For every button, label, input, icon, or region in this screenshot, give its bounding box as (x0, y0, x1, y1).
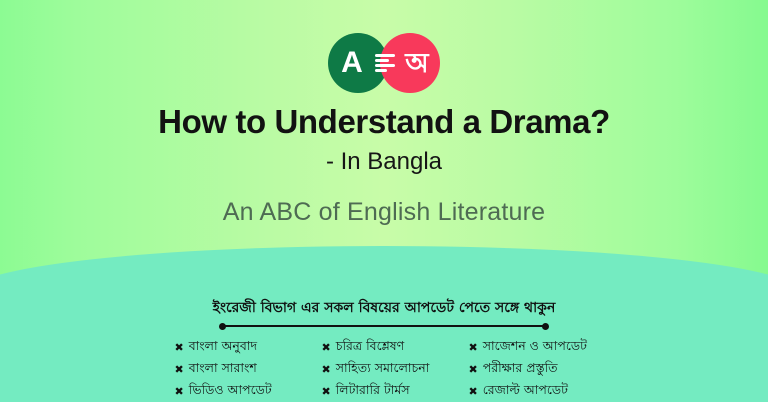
bottom-heading: ইংরেজী বিভাগ এর সকল বিষয়ের আপডেট পেতে স… (0, 300, 768, 317)
topic-item[interactable]: ✖পরীক্ষার প্রস্তুতি (469, 360, 594, 380)
logo-wrap: A অ (328, 33, 440, 93)
topic-item[interactable]: ✖বাংলা সারাংশ (175, 360, 300, 380)
topic-label: সাজেশন ও আপডেট (483, 338, 587, 358)
poster-canvas: A অ How to Understand a Drama? - In Bang… (0, 0, 768, 402)
bullet-marker-icon: ✖ (322, 341, 331, 354)
divider-bar (222, 325, 546, 327)
divider (219, 323, 549, 330)
topic-row: ✖বাংলা অনুবাদ✖চরিত্র বিশ্লেষণ✖সাজেশন ও আ… (175, 338, 594, 358)
logo-letter-english: A (341, 46, 363, 80)
topic-item[interactable]: ✖ভিডিও আপডেট (175, 382, 300, 402)
topic-label: সাহিত্য সমালোচনা (336, 360, 430, 380)
topic-label: বাংলা সারাংশ (189, 360, 257, 380)
bullet-marker-icon: ✖ (469, 341, 478, 354)
topic-row: ✖বাংলা সারাংশ✖সাহিত্য সমালোচনা✖পরীক্ষার … (175, 360, 594, 380)
topic-item[interactable]: ✖সাজেশন ও আপডেট (469, 338, 594, 358)
bullet-marker-icon: ✖ (175, 341, 184, 354)
topic-item[interactable]: ✖সাহিত্য সমালোচনা (322, 360, 447, 380)
bullet-marker-icon: ✖ (175, 363, 184, 376)
brand-logo: A অ (0, 32, 768, 94)
topic-label: ভিডিও আপডেট (189, 382, 272, 402)
topic-label: পরীক্ষার প্রস্তুতি (483, 360, 558, 380)
topic-row: ✖ভিডিও আপডেট✖লিটারারি টার্মস✖রেজাল্ট আপড… (175, 382, 594, 402)
divider-dot-right (542, 323, 549, 330)
topic-item[interactable]: ✖বাংলা অনুবাদ (175, 338, 300, 358)
topic-label: রেজাল্ট আপডেট (483, 382, 568, 402)
bullet-marker-icon: ✖ (469, 385, 478, 398)
topic-item[interactable]: ✖চরিত্র বিশ্লেষণ (322, 338, 447, 358)
logo-letter-bangla: অ (405, 50, 428, 77)
page-tagline: An ABC of English Literature (0, 198, 768, 227)
topic-item[interactable]: ✖লিটারারি টার্মস (322, 382, 447, 402)
topic-item[interactable]: ✖রেজাল্ট আপডেট (469, 382, 594, 402)
translate-bars-icon (375, 54, 395, 72)
bottom-content: ইংরেজী বিভাগ এর সকল বিষয়ের আপডেট পেতে স… (0, 300, 768, 402)
page-title: How to Understand a Drama? (0, 103, 768, 141)
bullet-marker-icon: ✖ (322, 385, 331, 398)
page-subtitle: - In Bangla (0, 148, 768, 176)
bullet-marker-icon: ✖ (469, 363, 478, 376)
topic-label: বাংলা অনুবাদ (189, 338, 257, 358)
topic-label: লিটারারি টার্মস (336, 382, 410, 402)
topic-label: চরিত্র বিশ্লেষণ (336, 338, 405, 358)
bullet-marker-icon: ✖ (175, 385, 184, 398)
bullet-marker-icon: ✖ (322, 363, 331, 376)
topic-list: ✖বাংলা অনুবাদ✖চরিত্র বিশ্লেষণ✖সাজেশন ও আ… (0, 338, 768, 402)
